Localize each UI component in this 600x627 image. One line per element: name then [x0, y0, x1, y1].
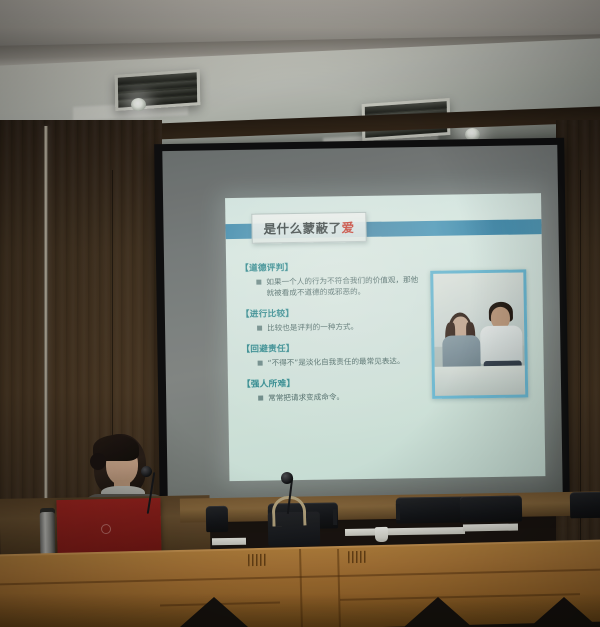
section-bullet: 常常把请求变成命令。 [242, 390, 424, 404]
thermos-tumbler [40, 512, 56, 554]
red-laptop [56, 498, 161, 558]
desk-paper-strip [463, 524, 518, 532]
microphone-head-2 [281, 472, 293, 484]
floor-shadow [0, 593, 600, 627]
slide-title-plain: 是什么蒙蔽了 [263, 220, 341, 236]
chair-post [396, 504, 400, 520]
section-bullet: 如果一个人的行为不符合我们的价值观，那他就被看成不道德的或邪恶的。 [240, 274, 422, 299]
photo-couch [430, 365, 528, 396]
microphone-head [141, 466, 152, 477]
section-heading: 【强人所难】 [242, 375, 424, 390]
section-heading: 【进行比较】 [241, 305, 423, 320]
slide-title-accent: 爱 [341, 220, 354, 235]
bullet-square-icon [258, 361, 263, 366]
bullet-square-icon [257, 326, 262, 331]
slide-section: 【强人所难】 常常把请求变成命令。 [242, 375, 424, 404]
ac-vent-left [115, 69, 201, 111]
dell-logo-icon [101, 524, 111, 534]
section-heading: 【道德评判】 [240, 259, 422, 274]
chair [460, 495, 522, 522]
paper-cup [375, 527, 388, 542]
bullet-text: 比较也是评判的一种方式。 [267, 321, 358, 333]
chair [206, 506, 228, 532]
section-bullet: “不得不”是淡化自我责任的最常见表达。 [242, 355, 424, 369]
section-bullet: 比较也是评判的一种方式。 [241, 320, 423, 334]
bullet-square-icon [256, 280, 261, 285]
couple-photo [430, 269, 528, 398]
ceiling-spotlight-left [131, 98, 146, 111]
slide-section: 【进行比较】 比较也是评判的一种方式。 [241, 305, 423, 334]
photo-man-body [480, 325, 523, 364]
slide-section: 【道德评判】 如果一个人的行为不符合我们的价值观，那他就被看成不道德的或邪恶的。 [240, 259, 423, 299]
chair [396, 496, 468, 523]
section-heading: 【回避责任】 [241, 340, 423, 355]
slide-section: 【回避责任】 “不得不”是淡化自我责任的最常见表达。 [241, 340, 423, 369]
chair-post [333, 509, 337, 525]
bullet-text: “不得不”是淡化自我责任的最常见表达。 [268, 355, 405, 368]
presenter-hair-bun [90, 453, 106, 470]
documents [212, 538, 246, 546]
bullet-text: 常常把请求变成命令。 [268, 391, 344, 403]
presentation-slide: 是什么蒙蔽了爱 【道德评判】 如果一个人的行为不符合我们的价值观，那他就被看成不… [225, 193, 545, 481]
stage-vent-slots [248, 554, 266, 566]
projection-screen-frame: 是什么蒙蔽了爱 【道德评判】 如果一个人的行为不符合我们的价值观，那他就被看成不… [154, 138, 570, 506]
bullet-square-icon [258, 396, 263, 401]
lecture-hall-photo: 是什么蒙蔽了爱 【道德评判】 如果一个人的行为不符合我们的价值观，那他就被看成不… [0, 0, 600, 627]
projection-screen-surface: 是什么蒙蔽了爱 【道德评判】 如果一个人的行为不符合我们的价值观，那他就被看成不… [162, 145, 562, 500]
chair [570, 492, 600, 519]
wall-metal-strip [44, 126, 48, 546]
stage-vent-slots [348, 551, 366, 563]
desk-paper-strip [345, 527, 465, 536]
slide-title-box: 是什么蒙蔽了爱 [251, 212, 366, 244]
slide-body: 【道德评判】 如果一个人的行为不符合我们的价值观，那他就被看成不道德的或邪恶的。… [240, 259, 424, 413]
bullet-text: 如果一个人的行为不符合我们的价值观，那他就被看成不道德的或邪恶的。 [266, 274, 422, 298]
slide-title: 是什么蒙蔽了爱 [263, 217, 354, 237]
